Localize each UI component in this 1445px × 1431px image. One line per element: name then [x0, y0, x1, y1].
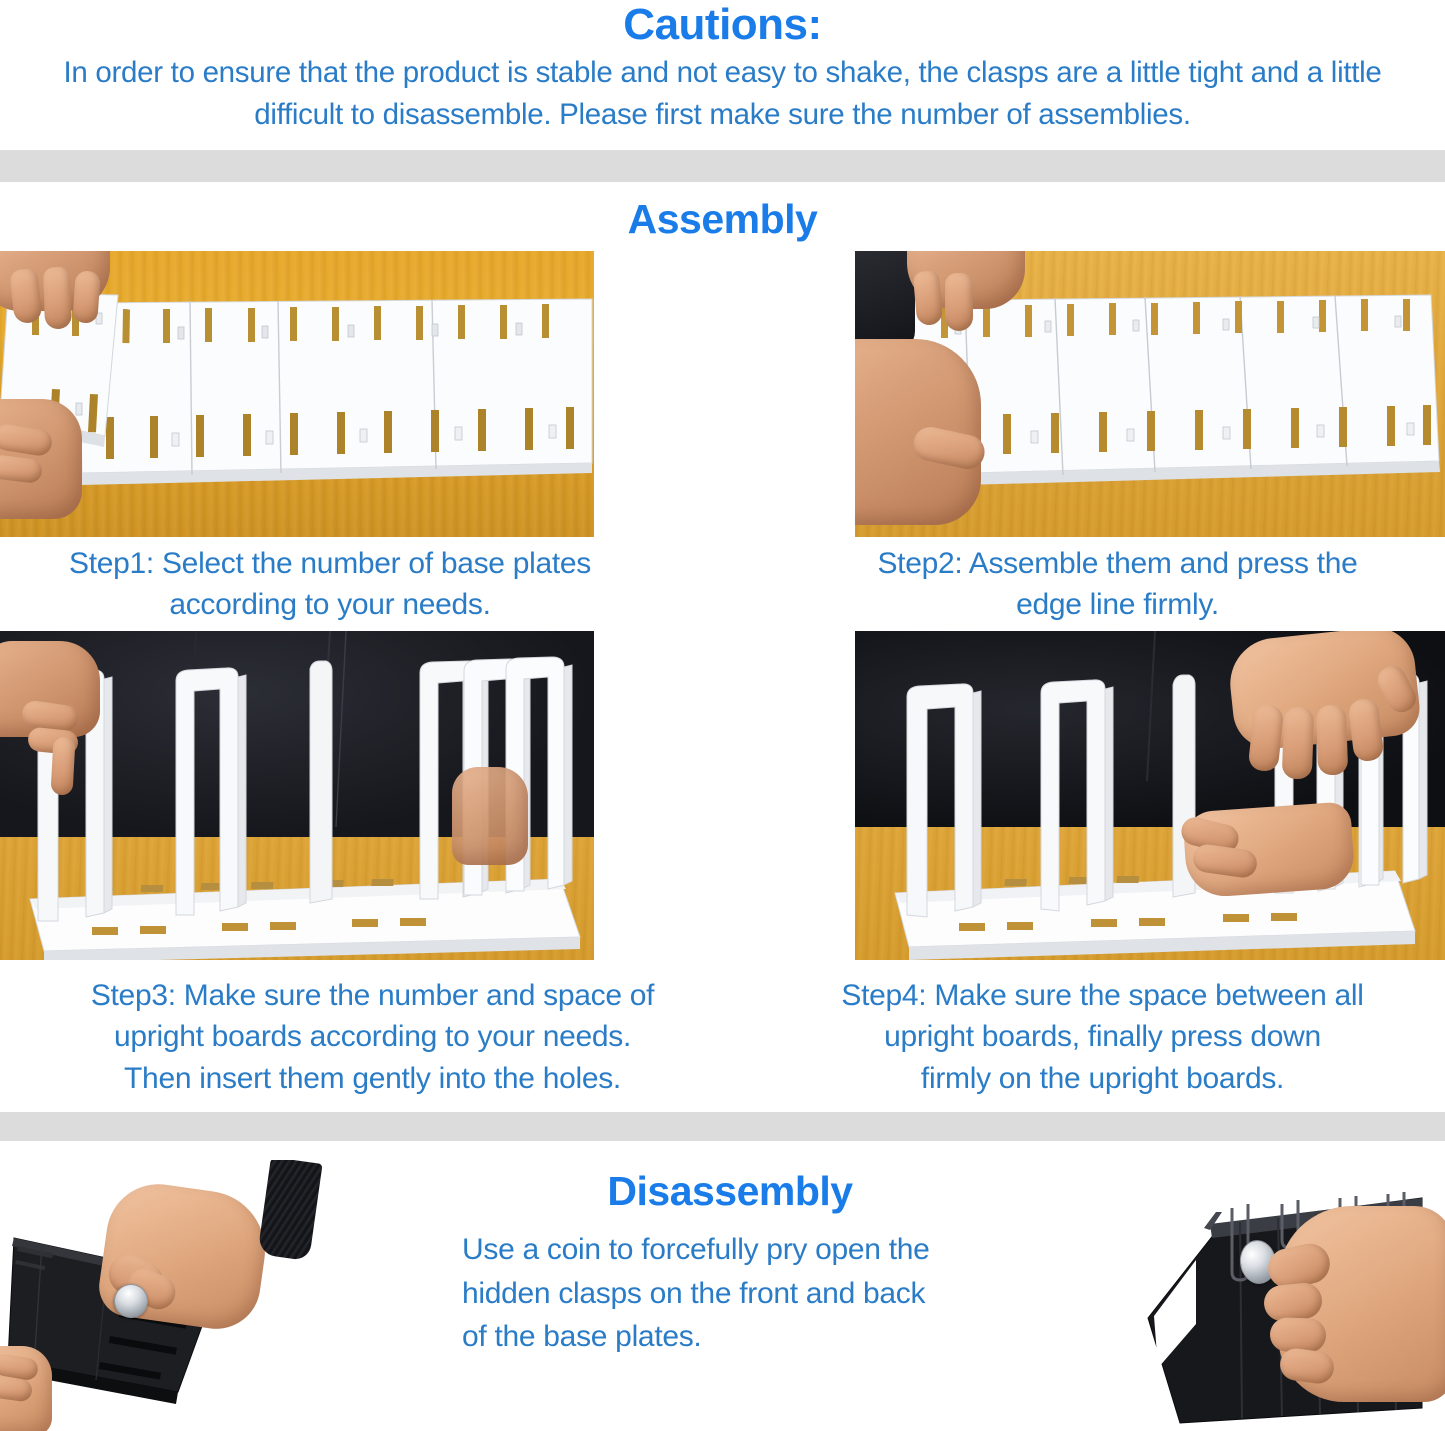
disassembly-line1: Use a coin to forcefully pry open the	[462, 1228, 1042, 1272]
step3-line2: upright boards according to your needs.	[0, 1016, 745, 1057]
step4-line1: Step4: Make sure the space between all	[841, 979, 1363, 1012]
disassembly-photo-left	[0, 1160, 395, 1431]
instruction-infographic: Cautions: In order to ensure that the pr…	[0, 0, 1445, 1431]
step1-line1: Step1: Select the number of base plates	[69, 547, 591, 580]
step3-line3: Then insert them gently into the holes.	[0, 1058, 745, 1099]
step2-line2: edge line firmly.	[790, 584, 1445, 625]
step4-caption: Step4: Make sure the space between all u…	[760, 975, 1445, 1099]
disassembly-body: Use a coin to forcefully pry open the hi…	[462, 1228, 1042, 1359]
disassembly-title: Disassembly	[420, 1168, 1040, 1215]
step3-photo	[0, 631, 594, 960]
step3-line1: Step3: Make sure the number and space of	[91, 979, 654, 1012]
step1-photo	[0, 251, 594, 537]
disassembly-photo-right	[1092, 1168, 1445, 1431]
section-divider-middle	[0, 1112, 1445, 1141]
step1-line2: according to your needs.	[0, 584, 660, 625]
disassembly-line2: hidden clasps on the front and back	[462, 1272, 1042, 1316]
step4-line2: upright boards, finally press down	[760, 1016, 1445, 1057]
step1-caption: Step1: Select the number of base plates …	[0, 543, 660, 626]
step2-photo	[855, 251, 1445, 537]
disassembly-line3: of the base plates.	[462, 1315, 1042, 1359]
step3-caption: Step3: Make sure the number and space of…	[0, 975, 745, 1099]
step2-line1: Step2: Assemble them and press the	[877, 547, 1357, 580]
step2-caption: Step2: Assemble them and press the edge …	[790, 543, 1445, 626]
step4-photo	[855, 631, 1445, 960]
cautions-title: Cautions:	[0, 2, 1445, 48]
assembly-title: Assembly	[0, 196, 1445, 243]
section-divider-top	[0, 150, 1445, 182]
step4-line3: firmly on the upright boards.	[760, 1058, 1445, 1099]
cautions-body: In order to ensure that the product is s…	[22, 52, 1423, 136]
